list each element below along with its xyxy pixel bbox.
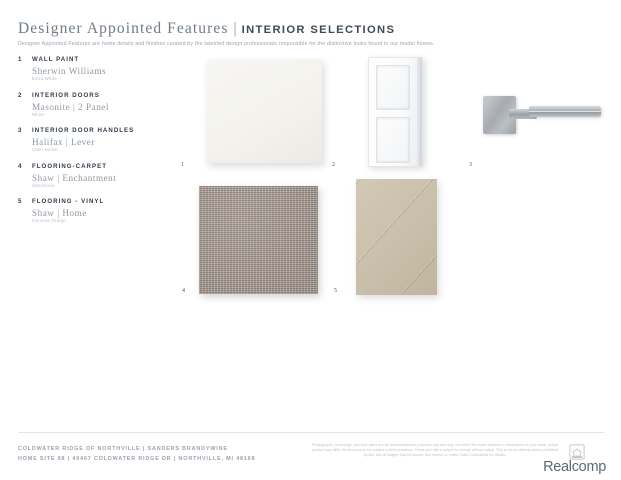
vinyl-flooring-image bbox=[356, 179, 437, 295]
door-slab bbox=[368, 57, 423, 167]
door-panel-bottom bbox=[376, 117, 410, 163]
gallery-label-carpet: 4 bbox=[182, 288, 185, 294]
list-item-product: Shaw | Home bbox=[32, 208, 168, 218]
list-item-category: INTERIOR DOORS bbox=[32, 92, 168, 100]
gallery-label-vinyl: 5 bbox=[334, 288, 337, 294]
gallery-label-paint: 1 bbox=[181, 162, 184, 168]
list-item-product: Sherwin Williams bbox=[32, 66, 168, 76]
footer-community-name: COLDWATER RIDGE OF NORTHVILLE | SANDERS … bbox=[18, 445, 255, 455]
list-item-product: Masonite | 2 Panel bbox=[32, 102, 168, 112]
list-item: 2 INTERIOR DOORS Masonite | 2 Panel Whit… bbox=[18, 92, 168, 118]
list-item-number: 1 bbox=[18, 56, 28, 63]
list-item: 3 INTERIOR DOOR HANDLES Halifax | Lever … bbox=[18, 127, 168, 153]
selections-list: 1 WALL PAINT Sherwin Williams Extra Whit… bbox=[18, 56, 168, 234]
list-item: 1 WALL PAINT Sherwin Williams Extra Whit… bbox=[18, 56, 168, 82]
paint-swatch-image bbox=[207, 60, 322, 163]
list-item: 4 FLOORING-CARPET Shaw | Enchantment San… bbox=[18, 163, 168, 189]
list-item-detail: Sandstone bbox=[32, 183, 168, 189]
footer-disclaimer-block: Photographs, renderings, and floor plans… bbox=[310, 443, 560, 457]
handle-lever bbox=[529, 106, 601, 117]
list-item-product: Shaw | Enchantment bbox=[32, 173, 168, 183]
list-item-detail: White bbox=[32, 112, 168, 118]
list-item: 5 FLOORING - VINYL Shaw | Home Genuine G… bbox=[18, 198, 168, 224]
gallery-label-door: 2 bbox=[332, 162, 335, 168]
page-title-subheading: INTERIOR SELECTIONS bbox=[242, 24, 396, 36]
list-item-category: WALL PAINT bbox=[32, 56, 168, 64]
realcomp-logo: Realcomp bbox=[543, 459, 606, 475]
list-item-detail: Genuine Greige bbox=[32, 218, 168, 224]
carpet-swatch-image bbox=[199, 186, 318, 294]
page-header: Designer Appointed Features | INTERIOR S… bbox=[18, 20, 604, 47]
footer-divider bbox=[18, 432, 604, 433]
door-handle-image bbox=[483, 93, 601, 145]
page-title-main: Designer Appointed Features bbox=[18, 20, 229, 38]
list-item-number: 2 bbox=[18, 92, 28, 99]
footer-disclaimer: Photographs, renderings, and floor plans… bbox=[310, 443, 560, 457]
list-item-product: Halifax | Lever bbox=[32, 137, 168, 147]
list-item-number: 5 bbox=[18, 198, 28, 205]
page-subtitle: Designer Appointed Features are home det… bbox=[18, 41, 604, 47]
footer-address: HOME SITE 98 | 49467 COLDWATER RIDGE DR … bbox=[18, 455, 255, 465]
footer-community-info: COLDWATER RIDGE OF NORTHVILLE | SANDERS … bbox=[18, 445, 255, 464]
gallery-label-handle: 3 bbox=[469, 162, 472, 168]
list-item-detail: Satin Nickel bbox=[32, 147, 168, 153]
page-title-divider: | bbox=[234, 20, 237, 38]
list-item-category: FLOORING - VINYL bbox=[32, 198, 168, 206]
list-item-category: FLOORING-CARPET bbox=[32, 163, 168, 171]
door-edge bbox=[417, 58, 422, 166]
list-item-number: 4 bbox=[18, 163, 28, 170]
interior-door-image bbox=[368, 57, 423, 167]
page-title: Designer Appointed Features | INTERIOR S… bbox=[18, 20, 604, 38]
door-panel-top bbox=[376, 65, 410, 110]
interior-selections-page: Designer Appointed Features | INTERIOR S… bbox=[0, 0, 621, 480]
list-item-category: INTERIOR DOOR HANDLES bbox=[32, 127, 168, 135]
list-item-detail: Extra White bbox=[32, 76, 168, 82]
list-item-number: 3 bbox=[18, 127, 28, 134]
